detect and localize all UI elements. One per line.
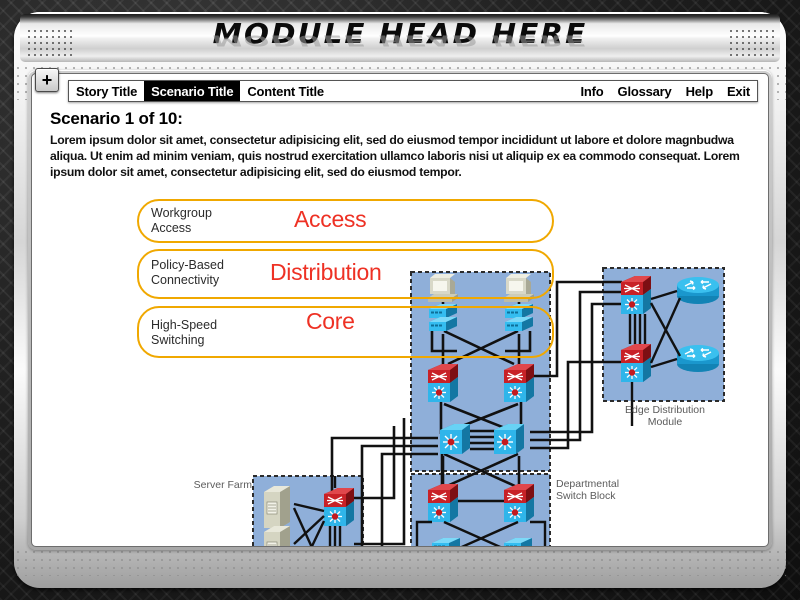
callout-label-policy: Policy-Based Connectivity [151,258,224,288]
callout-label-workgroup: Workgroup Access [151,206,212,236]
module-title-reflection: MODULE HEAD HERE [20,33,780,48]
tab-scenario-title[interactable]: Scenario Title [144,81,240,101]
network-diagram: Workgroup Access Policy-Based Connectivi… [32,186,769,547]
tab-story-title[interactable]: Story Title [69,81,144,101]
tier-label-access: Access [294,208,366,231]
nav-item-glossary[interactable]: Glossary [611,81,679,101]
caption-edge-distribution-module: Edge Distribution Module [610,404,720,428]
caption-server-farm: Server Farm [172,479,252,491]
caption-departmental-switch-block: Departmental Switch Block [556,478,652,502]
content-page: Story Title Scenario Title Content Title… [31,73,769,547]
nav-right-group: Info Glossary Help Exit [574,81,758,101]
expand-plus-button[interactable]: + [35,68,59,92]
body-text: Lorem ipsum dolor sit amet, consectetur … [50,132,750,181]
callout-label-workgroup-line1: Workgroup [151,206,212,220]
caption-dept-line1: Departmental [556,478,619,490]
callout-label-workgroup-line2: Access [151,221,191,235]
navigation-bar: Story Title Scenario Title Content Title… [68,80,758,102]
bezel-grille-bottom [14,548,786,576]
nav-left-group: Story Title Scenario Title Content Title [69,81,331,101]
caption-edge-line1: Edge Distribution [625,404,705,416]
nav-item-info[interactable]: Info [574,81,611,101]
callout-label-policy-line2: Connectivity [151,273,219,287]
nav-item-exit[interactable]: Exit [720,81,757,101]
callout-label-policy-line1: Policy-Based [151,258,224,272]
module-header-bar: MODULE HEAD HERE MODULE HEAD HERE [20,14,780,62]
callout-label-highspeed-line2: Switching [151,333,205,347]
page-title: Scenario 1 of 10: [50,109,183,129]
callout-label-highspeed-line1: High-Speed [151,318,217,332]
callout-label-highspeed: High-Speed Switching [151,318,217,348]
tab-content-title[interactable]: Content Title [240,81,331,101]
caption-edge-line2: Module [648,416,682,428]
tier-label-distribution: Distribution [270,261,381,284]
content-frame: Story Title Scenario Title Content Title… [28,70,772,550]
caption-dept-line2: Switch Block [556,490,616,502]
nav-item-help[interactable]: Help [679,81,720,101]
app-root: MODULE HEAD HERE MODULE HEAD HERE + Stor… [0,0,800,600]
tier-label-core: Core [306,310,355,333]
